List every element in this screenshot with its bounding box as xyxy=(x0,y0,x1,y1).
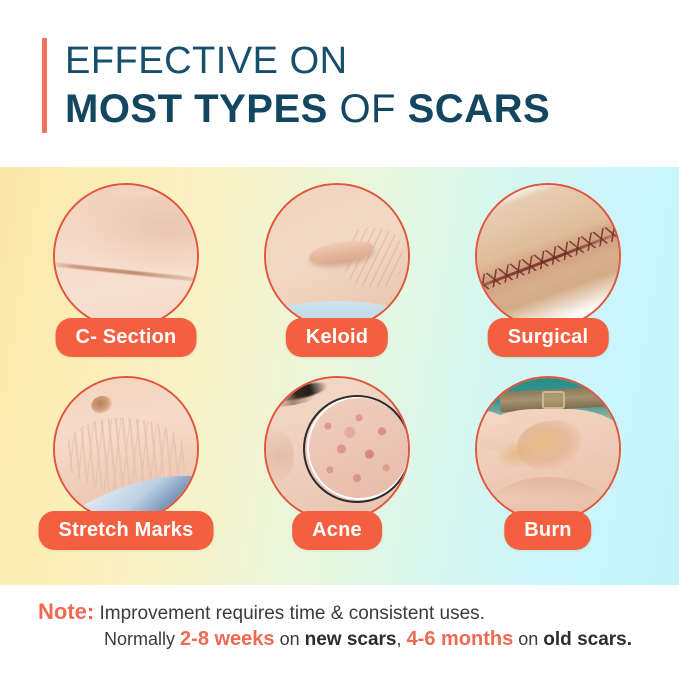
scar-type-card-burn[interactable]: Burn xyxy=(444,372,652,572)
scar-photo-circle xyxy=(264,183,410,329)
accent-bar-icon xyxy=(42,38,47,133)
scar-type-label: Surgical xyxy=(488,318,609,357)
note-duration-old: 4-6 months xyxy=(407,628,514,650)
scar-photo-circle xyxy=(53,376,199,522)
scar-type-card-surgical[interactable]: Surgical xyxy=(444,179,652,379)
note-duration-new: 2-8 weeks xyxy=(180,628,275,650)
note-line-1-text: Improvement requires time & consistent u… xyxy=(100,603,485,624)
nose-shadow xyxy=(264,426,294,486)
header-inner: EFFECTIVE ON MOST TYPES OF SCARS xyxy=(42,38,550,133)
note-line-1: Note: Improvement requires time & consis… xyxy=(38,599,485,626)
scar-type-label: Keloid xyxy=(286,318,388,357)
note-label: Note: xyxy=(38,599,94,624)
page-title: EFFECTIVE ON MOST TYPES OF SCARS xyxy=(65,38,550,133)
header-banner: EFFECTIVE ON MOST TYPES OF SCARS xyxy=(0,0,679,167)
stretch-marks-belly-photo xyxy=(55,378,197,520)
title-scars: SCARS xyxy=(408,87,551,131)
scar-type-card-c-section[interactable]: C- Section xyxy=(22,179,230,379)
note-on-1: on xyxy=(280,629,300,649)
scar-type-grid: C- Section Keloid Surgical xyxy=(0,167,679,585)
note-prefix: Normally xyxy=(104,629,175,649)
note-new-scars: new scars xyxy=(305,629,397,650)
title-line-1: EFFECTIVE ON xyxy=(65,38,550,85)
note-line-2: Normally 2-8 weeks on new scars, 4-6 mon… xyxy=(104,627,632,652)
acne-face-photo xyxy=(266,378,408,520)
note-on-2: on xyxy=(518,629,538,649)
scar-type-card-keloid[interactable]: Keloid xyxy=(233,179,441,379)
scar-type-label: Burn xyxy=(504,511,591,550)
burn-hand-photo xyxy=(477,378,619,520)
note-comma: , xyxy=(397,629,402,649)
surgical-stitches-photo xyxy=(477,185,619,327)
title-line-2: MOST TYPES OF SCARS xyxy=(65,85,550,133)
scar-photo-circle xyxy=(475,376,621,522)
scar-photo-circle xyxy=(264,376,410,522)
note-footer: Note: Improvement requires time & consis… xyxy=(0,585,679,679)
scar-type-card-stretch-marks[interactable]: Stretch Marks xyxy=(22,372,230,572)
navel xyxy=(88,394,114,417)
keloid-skin-photo xyxy=(266,185,408,327)
scar-type-label: Acne xyxy=(292,511,382,550)
scar-type-label: C- Section xyxy=(56,318,197,357)
note-old-scars: old scars. xyxy=(543,629,632,650)
title-most-types: MOST TYPES xyxy=(65,87,328,131)
scar-type-card-acne[interactable]: Acne xyxy=(233,372,441,572)
magnifier-inset-icon xyxy=(303,395,410,503)
scar-type-label: Stretch Marks xyxy=(39,511,214,550)
title-of: OF xyxy=(339,87,396,131)
c-section-skin-photo xyxy=(55,185,197,327)
scar-photo-circle xyxy=(475,183,621,329)
buckle-icon xyxy=(542,391,564,409)
scar-photo-circle xyxy=(53,183,199,329)
